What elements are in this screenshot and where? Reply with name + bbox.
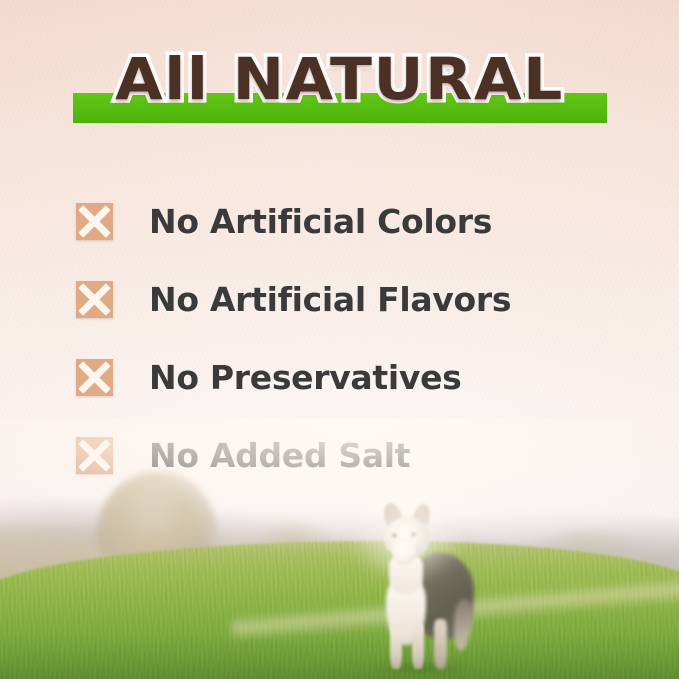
claim-label: No Artificial Colors [149, 202, 492, 241]
list-item: No Artificial Flavors [76, 260, 636, 338]
claim-label: No Artificial Flavors [149, 280, 511, 319]
landscape-photo [0, 419, 679, 679]
claim-label: No Preservatives [149, 358, 462, 397]
list-item: No Preservatives [76, 338, 636, 416]
x-mark-icon [76, 203, 113, 240]
page-title: All NATURAL [0, 50, 679, 108]
list-item: No Artificial Colors [76, 182, 636, 260]
bottom-shade [0, 633, 679, 679]
x-mark-icon [76, 359, 113, 396]
infographic-root: All NATURAL No Artificial Colors No Arti… [0, 0, 679, 679]
x-mark-icon [76, 281, 113, 318]
